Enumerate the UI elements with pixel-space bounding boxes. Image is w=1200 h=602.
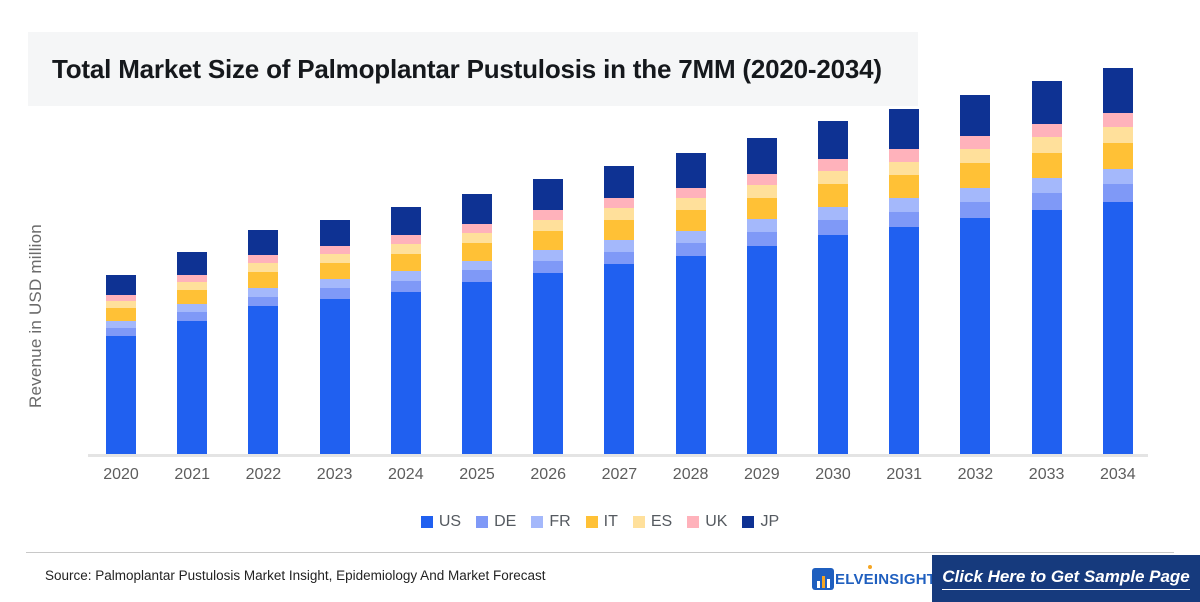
logo-bar-3	[827, 579, 830, 588]
bar-segment-us	[462, 282, 492, 454]
legend-swatch-de-icon	[476, 516, 488, 528]
bar-segment-es	[960, 149, 990, 163]
x-tick-2022: 2022	[233, 466, 293, 484]
bar-segment-es	[106, 301, 136, 308]
logo-bar-2	[822, 576, 825, 588]
bar-2028[interactable]	[676, 153, 706, 454]
x-tick-2032: 2032	[945, 466, 1005, 484]
bar-segment-uk	[1032, 124, 1062, 138]
bar-segment-es	[1032, 137, 1062, 152]
legend-swatch-us-icon	[421, 516, 433, 528]
bar-segment-it	[1103, 143, 1133, 169]
bar-segment-it	[248, 272, 278, 287]
chart-legend: USDEFRITESUKJP	[0, 513, 1200, 531]
bar-segment-fr	[177, 304, 207, 312]
x-tick-2034: 2034	[1088, 466, 1148, 484]
bar-segment-fr	[604, 240, 634, 252]
bar-segment-jp	[533, 179, 563, 211]
legend-label-es: ES	[651, 513, 672, 531]
x-tick-2029: 2029	[732, 466, 792, 484]
legend-item-it[interactable]: IT	[586, 513, 618, 531]
bar-segment-es	[533, 220, 563, 231]
bar-segment-es	[747, 185, 777, 198]
bar-2032[interactable]	[960, 95, 990, 454]
header-band: Total Market Size of Palmoplantar Pustul…	[28, 32, 918, 106]
bar-segment-fr	[1103, 169, 1133, 184]
x-tick-2031: 2031	[874, 466, 934, 484]
legend-label-it: IT	[604, 513, 618, 531]
logo-bar-1	[817, 581, 820, 588]
bar-segment-us	[1103, 202, 1133, 454]
legend-item-us[interactable]: US	[421, 513, 461, 531]
bar-segment-uk	[320, 246, 350, 254]
legend-swatch-jp-icon	[742, 516, 754, 528]
bar-group	[88, 130, 1153, 454]
bar-segment-us	[248, 306, 278, 454]
legend-label-uk: UK	[705, 513, 727, 531]
x-tick-2030: 2030	[803, 466, 863, 484]
x-tick-2026: 2026	[518, 466, 578, 484]
bar-segment-fr	[106, 321, 136, 328]
x-axis-line	[88, 454, 1148, 457]
bar-segment-de	[177, 312, 207, 321]
bar-segment-uk	[1103, 113, 1133, 127]
bar-segment-jp	[747, 138, 777, 174]
x-axis-ticks: 2020202120222023202420252026202720282029…	[88, 466, 1153, 492]
source-text: Source: Palmoplantar Pustulosis Market I…	[45, 568, 545, 583]
x-tick-2027: 2027	[589, 466, 649, 484]
bar-segment-us	[106, 336, 136, 454]
bar-segment-jp	[462, 194, 492, 224]
bar-segment-us	[177, 321, 207, 454]
x-tick-2024: 2024	[376, 466, 436, 484]
bar-segment-jp	[177, 252, 207, 275]
bar-segment-de	[248, 297, 278, 307]
bar-segment-de	[320, 288, 350, 299]
bar-segment-fr	[676, 231, 706, 243]
bar-2024[interactable]	[391, 207, 421, 454]
bar-segment-it	[676, 210, 706, 231]
bar-segment-us	[391, 292, 421, 454]
bar-segment-jp	[818, 121, 848, 159]
bar-segment-jp	[1032, 81, 1062, 124]
legend-label-fr: FR	[549, 513, 570, 531]
bar-segment-de	[391, 281, 421, 292]
bar-2023[interactable]	[320, 220, 350, 454]
bar-segment-es	[462, 233, 492, 243]
x-tick-2025: 2025	[447, 466, 507, 484]
x-tick-2020: 2020	[91, 466, 151, 484]
bar-segment-it	[889, 175, 919, 198]
page-title: Total Market Size of Palmoplantar Pustul…	[52, 54, 882, 85]
x-tick-2028: 2028	[661, 466, 721, 484]
legend-item-de[interactable]: DE	[476, 513, 516, 531]
bar-segment-fr	[1032, 178, 1062, 193]
bar-segment-jp	[106, 275, 136, 295]
bar-segment-us	[604, 264, 634, 454]
bar-segment-fr	[391, 271, 421, 281]
legend-swatch-es-icon	[633, 516, 645, 528]
bar-segment-de	[1103, 184, 1133, 202]
bar-segment-de	[676, 243, 706, 257]
bar-segment-us	[747, 246, 777, 454]
bar-segment-us	[818, 235, 848, 454]
bar-segment-fr	[747, 219, 777, 232]
bar-2030[interactable]	[818, 121, 848, 454]
bar-segment-es	[1103, 127, 1133, 142]
bar-segment-us	[1032, 210, 1062, 454]
bar-2031[interactable]	[889, 109, 919, 454]
chart-page: Total Market Size of Palmoplantar Pustul…	[0, 0, 1200, 602]
delveinsight-logo: ELVEINSIGHT	[812, 566, 936, 592]
bar-segment-it	[1032, 153, 1062, 178]
bar-2020[interactable]	[106, 275, 136, 454]
bar-segment-fr	[960, 188, 990, 202]
bar-2027[interactable]	[604, 166, 634, 454]
footer-divider	[26, 552, 1174, 553]
bar-segment-de	[462, 270, 492, 282]
bar-segment-jp	[248, 230, 278, 255]
bar-segment-uk	[747, 174, 777, 185]
bar-segment-de	[533, 261, 563, 274]
bar-2033[interactable]	[1032, 81, 1062, 454]
bar-segment-uk	[818, 159, 848, 171]
legend-label-us: US	[439, 513, 461, 531]
x-tick-2033: 2033	[1017, 466, 1077, 484]
bar-segment-us	[889, 227, 919, 454]
bar-segment-fr	[818, 207, 848, 221]
x-tick-2021: 2021	[162, 466, 222, 484]
get-sample-page-button[interactable]: Click Here to Get Sample Page	[932, 555, 1200, 602]
legend-label-de: DE	[494, 513, 516, 531]
bar-segment-uk	[248, 255, 278, 263]
bar-segment-uk	[960, 136, 990, 149]
bar-segment-it	[320, 263, 350, 279]
bar-segment-uk	[177, 275, 207, 282]
bar-segment-jp	[391, 207, 421, 235]
bar-segment-es	[248, 263, 278, 272]
bar-segment-it	[747, 198, 777, 220]
bar-2034[interactable]	[1103, 68, 1133, 454]
bar-segment-jp	[320, 220, 350, 246]
bar-2029[interactable]	[747, 138, 777, 454]
bar-segment-us	[320, 299, 350, 454]
brand-name-text: ELVEINSIGHT	[835, 571, 936, 588]
bar-segment-us	[533, 273, 563, 454]
legend-label-jp: JP	[760, 513, 779, 531]
bar-segment-de	[106, 328, 136, 336]
bar-segment-es	[818, 171, 848, 185]
bar-segment-de	[1032, 193, 1062, 210]
bar-segment-de	[604, 252, 634, 265]
bar-segment-jp	[960, 95, 990, 136]
bar-segment-fr	[320, 279, 350, 288]
bar-segment-us	[960, 218, 990, 454]
bar-2026[interactable]	[533, 179, 563, 454]
bar-segment-jp	[676, 153, 706, 187]
legend-item-jp[interactable]: JP	[742, 513, 779, 531]
logo-bars-icon	[812, 568, 834, 590]
cta-label: Click Here to Get Sample Page	[942, 567, 1190, 590]
bar-segment-it	[462, 243, 492, 261]
bar-segment-uk	[604, 198, 634, 208]
bar-segment-us	[676, 256, 706, 454]
bar-segment-jp	[889, 109, 919, 149]
bar-segment-it	[818, 184, 848, 207]
bar-segment-uk	[676, 188, 706, 199]
bar-2021[interactable]	[177, 252, 207, 454]
bar-segment-es	[889, 162, 919, 176]
bar-segment-es	[177, 282, 207, 290]
bar-segment-it	[604, 220, 634, 240]
bar-segment-es	[391, 244, 421, 254]
bar-segment-uk	[462, 224, 492, 233]
legend-swatch-fr-icon	[531, 516, 543, 528]
legend-item-fr[interactable]: FR	[531, 513, 570, 531]
bar-segment-it	[533, 231, 563, 250]
bar-segment-de	[747, 232, 777, 246]
bar-segment-fr	[533, 250, 563, 261]
bar-segment-de	[960, 202, 990, 218]
y-axis-label-text: Revenue in USD million	[26, 196, 46, 436]
bar-segment-de	[889, 212, 919, 227]
logo-accent-dot-icon	[868, 565, 872, 569]
legend-swatch-uk-icon	[687, 516, 699, 528]
bar-segment-fr	[462, 261, 492, 271]
bar-segment-de	[818, 220, 848, 235]
bar-segment-jp	[1103, 68, 1133, 113]
bar-segment-uk	[889, 149, 919, 162]
legend-swatch-it-icon	[586, 516, 598, 528]
bar-segment-es	[604, 208, 634, 220]
bar-segment-es	[676, 198, 706, 210]
x-tick-2023: 2023	[305, 466, 365, 484]
legend-item-uk[interactable]: UK	[687, 513, 727, 531]
bar-segment-uk	[391, 235, 421, 244]
bar-segment-it	[177, 290, 207, 304]
bar-segment-fr	[889, 198, 919, 212]
bar-segment-uk	[533, 210, 563, 220]
y-axis-label: Revenue in USD million	[26, 0, 56, 196]
bar-segment-jp	[604, 166, 634, 198]
bar-segment-it	[106, 308, 136, 321]
bar-2022[interactable]	[248, 230, 278, 454]
bar-segment-fr	[248, 288, 278, 297]
bar-segment-it	[960, 163, 990, 187]
bar-2025[interactable]	[462, 194, 492, 454]
bar-segment-es	[320, 254, 350, 263]
bar-segment-it	[391, 254, 421, 271]
legend-item-es[interactable]: ES	[633, 513, 672, 531]
